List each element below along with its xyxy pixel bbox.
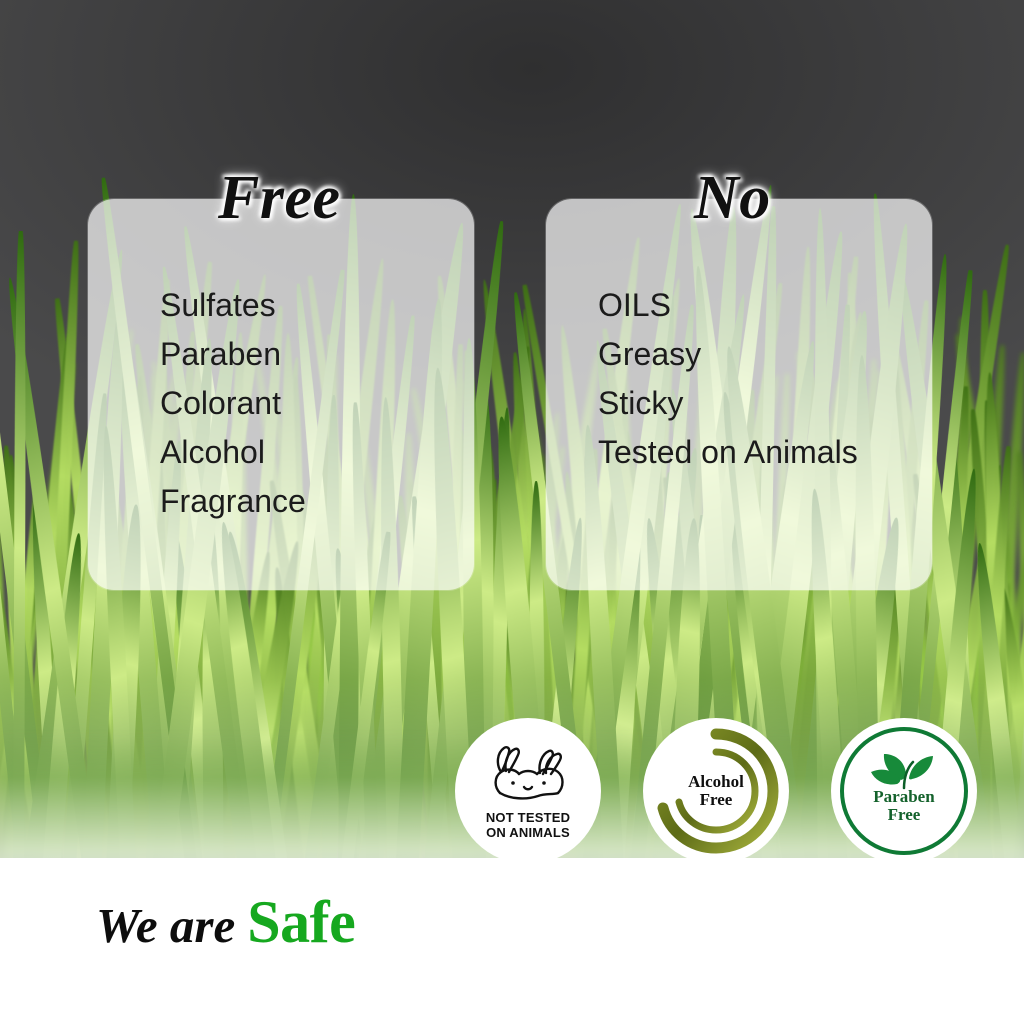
list-item: Tested on Animals: [598, 428, 858, 477]
badge-caption: Paraben Free: [873, 788, 934, 824]
list-item: Greasy: [598, 330, 858, 379]
certification-badges: NOT TESTED ON ANIMALS: [455, 718, 995, 878]
badge-caption: NOT TESTED ON ANIMALS: [486, 810, 570, 840]
list-item: Fragrance: [160, 477, 306, 526]
poster: Free Sulfates Paraben Colorant Alcohol F…: [0, 0, 1024, 1024]
list-item: Sulfates: [160, 281, 306, 330]
footer-tagline-highlight: Safe: [235, 889, 355, 955]
free-card-title: Free: [218, 163, 341, 234]
badge-caption: Alcohol Free: [688, 773, 744, 809]
no-card-list: OILS Greasy Sticky Tested on Animals: [598, 281, 858, 477]
not-tested-on-animals-badge: NOT TESTED ON ANIMALS: [455, 718, 601, 864]
list-item: OILS: [598, 281, 858, 330]
no-card-title: No: [694, 163, 771, 234]
list-item: Colorant: [160, 379, 306, 428]
list-item: Alcohol: [160, 428, 306, 477]
badge-caption-line1: Paraben: [873, 788, 934, 806]
footer-tagline-lead: We are: [96, 898, 235, 953]
paraben-free-badge: Paraben Free: [831, 718, 977, 864]
badge-caption-line1: Alcohol: [688, 773, 744, 791]
list-item: Paraben: [160, 330, 306, 379]
list-item: Sticky: [598, 379, 858, 428]
footer-tagline: We areSafe: [96, 888, 355, 957]
badge-caption-line1: NOT TESTED: [486, 810, 570, 825]
badge-caption-line2: Free: [873, 806, 934, 824]
rabbit-icon: [480, 743, 576, 810]
alcohol-free-badge: Alcohol Free: [643, 718, 789, 864]
badge-caption-line2: Free: [688, 791, 744, 809]
free-card-list: Sulfates Paraben Colorant Alcohol Fragra…: [160, 281, 306, 526]
badge-caption-line2: ON ANIMALS: [486, 825, 570, 840]
